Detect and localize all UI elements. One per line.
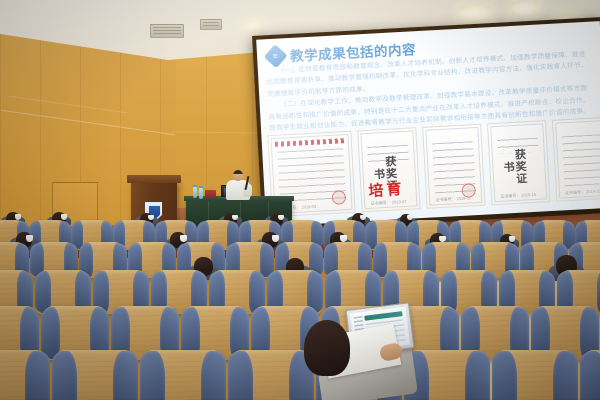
face-mask <box>232 215 238 220</box>
face-mask <box>360 215 366 220</box>
projection-screen: ≡ 教学成果包括的内容 （一）在转变教育思想和教育观念、改革人才培养机制、创新人… <box>256 21 600 226</box>
seat-side-cushion <box>553 351 578 400</box>
certificate-title: 获奖证书 <box>511 144 527 189</box>
seat-wood-grain <box>282 274 308 309</box>
projection-screen-frame: ≡ 教学成果包括的内容 （一）在转变教育思想和教育观念、改革人才培养机制、创新人… <box>252 17 600 232</box>
ceiling-light <box>246 22 262 30</box>
seat-wood-grain <box>456 274 482 309</box>
seat-wood-grain <box>514 274 540 309</box>
auditorium-seat[interactable] <box>54 350 136 400</box>
audience-seating <box>0 222 600 400</box>
certificate-image: 获奖证书 证书编号： 2019-15 <box>487 120 550 205</box>
face-mask <box>340 235 347 241</box>
face-mask <box>272 235 279 241</box>
vent-louvers-icon <box>153 27 181 35</box>
seat-wood-grain <box>163 357 202 400</box>
attendee-head <box>304 320 350 376</box>
seat-wood-grain <box>108 274 134 309</box>
ceiling-light <box>512 2 538 15</box>
seat-wood-grain <box>59 311 91 354</box>
seat-side-cushion <box>25 351 50 400</box>
seat-wood-grain <box>251 357 290 400</box>
seat-wood-grain <box>0 311 21 354</box>
seat-wood-grain <box>224 274 250 309</box>
face-mask <box>180 235 187 241</box>
seat-wood-grain <box>515 357 554 400</box>
bullet-glyph: ≡ <box>273 52 278 60</box>
slide-watermark: 培育 <box>368 178 405 202</box>
seat-side-cushion <box>140 351 165 400</box>
seat-wood-grain <box>50 274 76 309</box>
seat-wood-grain <box>0 357 27 400</box>
seat-side-cushion <box>201 351 226 400</box>
auditorium-seat[interactable] <box>142 350 224 400</box>
face-mask <box>148 215 154 220</box>
auditorium-seat[interactable] <box>582 350 600 400</box>
seat-wood-grain <box>479 311 511 354</box>
certificate-image: 证书编号： 2019-19 <box>552 117 600 202</box>
seat-wood-grain <box>0 274 18 309</box>
seat-wood-grain <box>269 311 301 354</box>
auditorium-seat[interactable] <box>230 350 312 400</box>
vent-louvers-icon <box>203 22 219 27</box>
seat-wood-grain <box>75 357 114 400</box>
ceiling-light <box>460 6 490 21</box>
seat-side-cushion <box>113 351 138 400</box>
bottle-cap <box>199 186 203 188</box>
seat-wood-grain <box>549 311 581 354</box>
lecture-hall-photo: ≡ 教学成果包括的内容 （一）在转变教育思想和教育观念、改革人才培养机制、创新人… <box>0 0 600 400</box>
face-mask <box>407 215 412 220</box>
seat-side-cushion <box>228 351 253 400</box>
certificate-text-lines <box>562 134 600 186</box>
auditorium-seat[interactable] <box>494 350 576 400</box>
certificate-image: 证书编号： 2019-11 <box>423 124 486 209</box>
water-bottle <box>199 188 203 199</box>
seat-wood-grain <box>166 274 192 309</box>
red-box-on-table <box>205 190 216 198</box>
seat-side-cushion <box>52 351 77 400</box>
diamond-bullet-icon: ≡ <box>264 44 288 68</box>
foreground-attendee <box>318 300 448 400</box>
face-mask <box>278 215 284 220</box>
certificate-gallery: 证书编号： 2019-03 获奖证书 证书编号： 2019-07 证书编号： 2… <box>267 117 600 217</box>
lectern-top <box>127 175 181 183</box>
ceiling-air-vent <box>150 24 184 38</box>
bottle-cap <box>193 185 197 187</box>
presenter-head <box>233 170 243 181</box>
seat-wood-grain <box>199 311 231 354</box>
ceiling-air-vent <box>200 19 222 30</box>
seat-side-cushion <box>492 351 517 400</box>
seat-side-cushion <box>580 351 600 400</box>
water-bottle <box>193 187 197 198</box>
seat-wood-grain <box>129 311 161 354</box>
seat-wood-grain <box>572 274 598 309</box>
auditorium-seat[interactable] <box>0 350 48 400</box>
seat-side-cushion <box>465 351 490 400</box>
